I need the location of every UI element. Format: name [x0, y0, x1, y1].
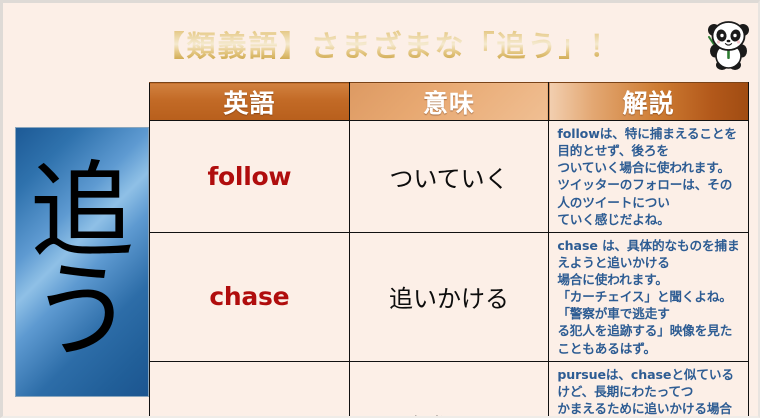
cell-meaning-pursue: 追求する [349, 361, 549, 418]
cell-explanation-chase: chase は、具体的なものを捕まえようと追いかける 場合に使われます。 「カー… [549, 232, 749, 361]
cell-explanation-follow: followは、特に捕まえることを目的とせず、後ろを ついていく場合に使われます… [549, 121, 749, 233]
explanation-line: ツイッターのフォローは、その人のツイートについ [557, 176, 743, 210]
cell-english-chase: chase [150, 232, 350, 361]
page-title: 【類義語】さまざまな「追う」！ [123, 23, 653, 69]
column-header-english: 英語 [150, 83, 350, 121]
panda-right-cheek [737, 40, 740, 43]
panda-mascot [701, 17, 755, 73]
explanation-line: 場合に使われます。 [557, 271, 743, 288]
table-row: follow ついていく followは、特に捕まえることを目的とせず、後ろを … [150, 121, 749, 233]
explanation-text-chase: chase は、具体的なものを捕まえようと追いかける 場合に使われます。 「カー… [557, 237, 743, 357]
cell-explanation-pursue: pursueは、chaseと似ているけど、長期にわたってつ かまえるために追いか… [549, 361, 749, 418]
table-row: chase 追いかける chase は、具体的なものを捕まえようと追いかける 場… [150, 232, 749, 361]
explanation-line: pursueは、chaseと似ているけど、長期にわたってつ [557, 366, 743, 400]
explanation-line: ていく感じだよね。 [557, 211, 743, 228]
cell-english-pursue: pursue [150, 361, 350, 418]
explanation-line: かまえるために追いかける場合に使われます。 [557, 400, 743, 418]
kanji-char-1: 追 [30, 162, 134, 262]
kanji-char-2: う [30, 262, 134, 362]
explanation-line: ついていく場合に使われます。 [557, 159, 743, 176]
explanation-line: 「カーチェイス」と聞くよね。「警察が車で逃走す [557, 288, 743, 322]
column-header-explanation: 解説 [549, 83, 749, 121]
cell-english-follow: follow [150, 121, 350, 233]
cell-meaning-chase: 追いかける [349, 232, 549, 361]
kanji-highlight-panel: 追 う [15, 127, 149, 397]
table-row: pursue 追求する pursueは、chaseと似ているけど、長期にわたって… [150, 361, 749, 418]
explanation-text-follow: followは、特に捕まえることを目的とせず、後ろを ついていく場合に使われます… [557, 125, 743, 228]
infographic-canvas: 【類義語】さまざまな「追う」！ [0, 0, 760, 418]
explanation-line: る犯人を追跡する」映像を見たこともあるはず。 [557, 322, 743, 356]
panda-left-cheek [717, 40, 720, 43]
explanation-line: chase は、具体的なものを捕まえようと追いかける [557, 237, 743, 271]
table-header-row: 英語 意味 解説 [150, 83, 749, 121]
panda-right-eye [733, 34, 736, 37]
column-header-meaning: 意味 [349, 83, 549, 121]
panda-left-eye [720, 34, 723, 37]
cell-meaning-follow: ついていく [349, 121, 549, 233]
panda-nose [727, 40, 731, 43]
synonyms-table: 英語 意味 解説 follow ついていく followは、特に捕まえることを目… [149, 82, 749, 418]
explanation-text-pursue: pursueは、chaseと似ているけど、長期にわたってつ かまえるために追いか… [557, 366, 743, 418]
explanation-line: followは、特に捕まえることを目的とせず、後ろを [557, 125, 743, 159]
